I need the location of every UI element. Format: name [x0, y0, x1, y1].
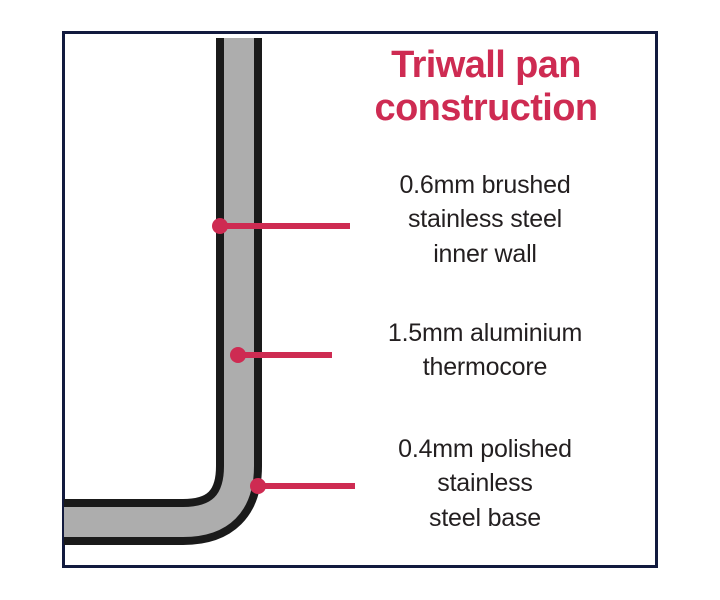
- figure-title-line-2: construction: [336, 87, 636, 130]
- callout-inner-wall: 0.6mm brushed stainless steel inner wall: [340, 168, 630, 271]
- leader-dot-thermocore: [230, 347, 246, 363]
- callout-line: 0.4mm polished: [340, 432, 630, 466]
- pan-aluminium-core-layer: [30, 38, 239, 522]
- callout-thermocore: 1.5mm aluminium thermocore: [340, 316, 630, 385]
- figure-title: Triwall pan construction: [336, 44, 636, 131]
- figure-title-line-1: Triwall pan: [336, 44, 636, 87]
- callout-steel-base: 0.4mm polished stainless steel base: [340, 432, 630, 535]
- callout-line: 1.5mm aluminium: [340, 316, 630, 350]
- leader-dot-steel-base: [250, 478, 266, 494]
- callout-line: stainless steel: [340, 202, 630, 236]
- leader-dot-inner-wall: [212, 218, 228, 234]
- callout-line: inner wall: [340, 237, 630, 271]
- callout-line: thermocore: [340, 350, 630, 384]
- callout-line: stainless: [340, 466, 630, 500]
- callout-line: 0.6mm brushed: [340, 168, 630, 202]
- callout-line: steel base: [340, 501, 630, 535]
- diagram-canvas: Triwall pan construction 0.6mm brushed s…: [0, 0, 720, 600]
- pan-outer-steel-layer: [30, 38, 239, 522]
